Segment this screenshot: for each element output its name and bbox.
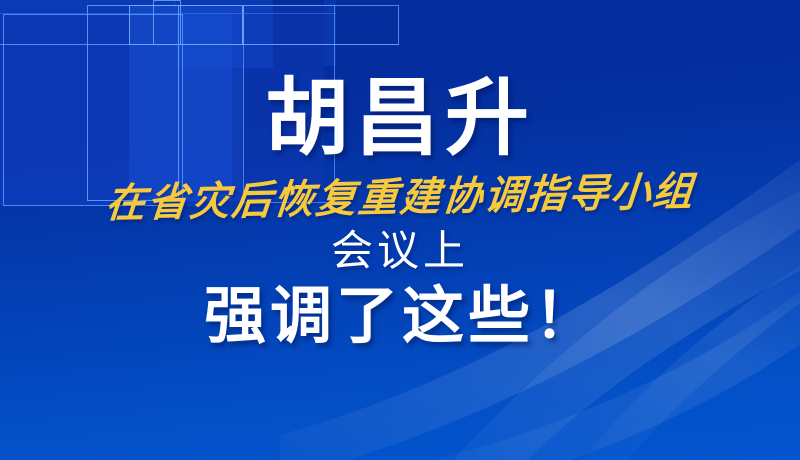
headline-exclamation-mark: ！ (534, 282, 596, 351)
headline-name: 胡昌升 (265, 76, 535, 160)
decor-block-c (129, 5, 243, 201)
decor-block-e (175, 0, 273, 68)
headline-emphasis-row: 强调了这些！ (204, 286, 596, 348)
headline-meeting-line: 会议上 (331, 230, 469, 272)
decor-outline-4 (153, 0, 181, 45)
headline-calligraphy-line: 在省灾后恢复重建协调指导小组 (104, 172, 697, 224)
decor-outline-5 (243, 5, 335, 203)
decor-outline-1 (3, 14, 183, 206)
decor-block-f (324, 0, 336, 66)
poster-canvas: 胡昌升 在省灾后恢复重建协调指导小组 会议上 强调了这些！ (0, 0, 800, 460)
decor-block-a (0, 0, 176, 13)
decor-hairline-1 (0, 44, 399, 45)
decor-block-b (0, 14, 232, 206)
headline-emphasis-text: 强调了这些 (204, 282, 534, 351)
decor-outline-6 (243, 5, 399, 45)
decor-outline-3 (129, 5, 243, 45)
decor-block-d (232, 5, 324, 203)
poster-text-stack: 胡昌升 在省灾后恢复重建协调指导小组 会议上 强调了这些！ (0, 0, 800, 460)
geometric-decoration (0, 0, 800, 460)
decor-hairline-2 (0, 13, 336, 14)
decor-outline-2 (87, 5, 179, 201)
curved-light-streaks (280, 140, 800, 460)
